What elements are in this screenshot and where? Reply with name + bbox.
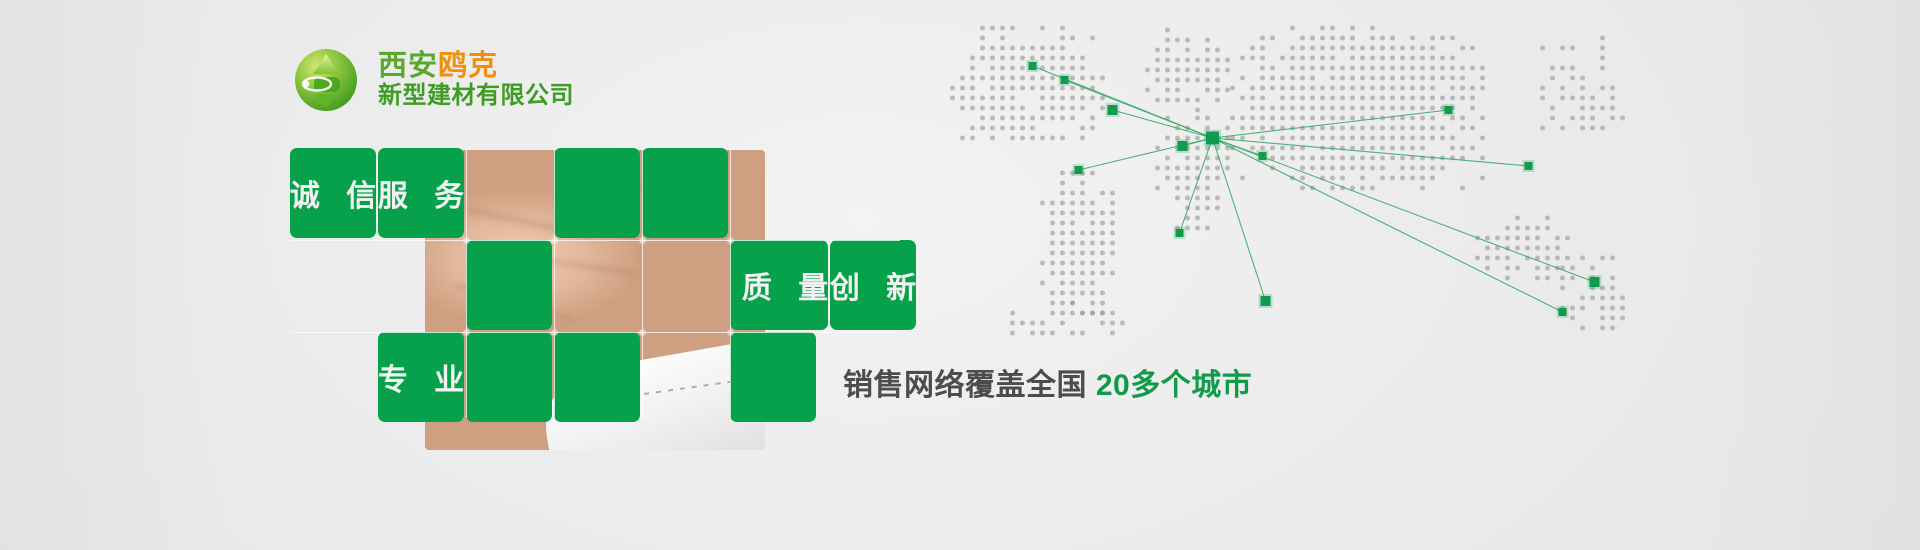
tagline-highlight: 20多个城市: [1096, 369, 1252, 402]
mosaic-tile-blank: [642, 148, 728, 238]
mosaic-tile-blank: [466, 240, 552, 330]
tagline-text: 销售网络覆盖全国: [843, 369, 1096, 402]
brand-name: 西安鸥克: [378, 50, 574, 82]
value-tile-label: 专 业: [369, 355, 473, 399]
brand-name-prefix: 西安: [378, 50, 438, 82]
world-dot-map: [735, 18, 1920, 363]
leaf-globe-logo-icon: [292, 44, 364, 116]
mosaic-tile-blank: [554, 148, 640, 238]
brand-text: 西安鸥克 新型建材有限公司: [378, 50, 574, 109]
network-tagline: 销售网络覆盖全国 20多个城市: [843, 360, 1252, 404]
promo-banner: 西安鸥克 新型建材有限公司 诚 信 服 务 质 量 创 新: [0, 0, 1920, 550]
value-tile-label: 服 务: [369, 171, 473, 215]
mosaic-tile-blank: [554, 332, 640, 422]
brand-logo[interactable]: 西安鸥克 新型建材有限公司: [292, 44, 574, 116]
brand-name-highlight: 鸥克: [438, 50, 498, 82]
value-tile-integrity[interactable]: 诚 信: [290, 148, 376, 238]
mosaic-tile-blank: [466, 332, 552, 422]
value-tile-expertise[interactable]: 专 业: [378, 332, 464, 422]
value-tile-service[interactable]: 服 务: [378, 148, 464, 238]
brand-subtitle: 新型建材有限公司: [378, 83, 574, 110]
